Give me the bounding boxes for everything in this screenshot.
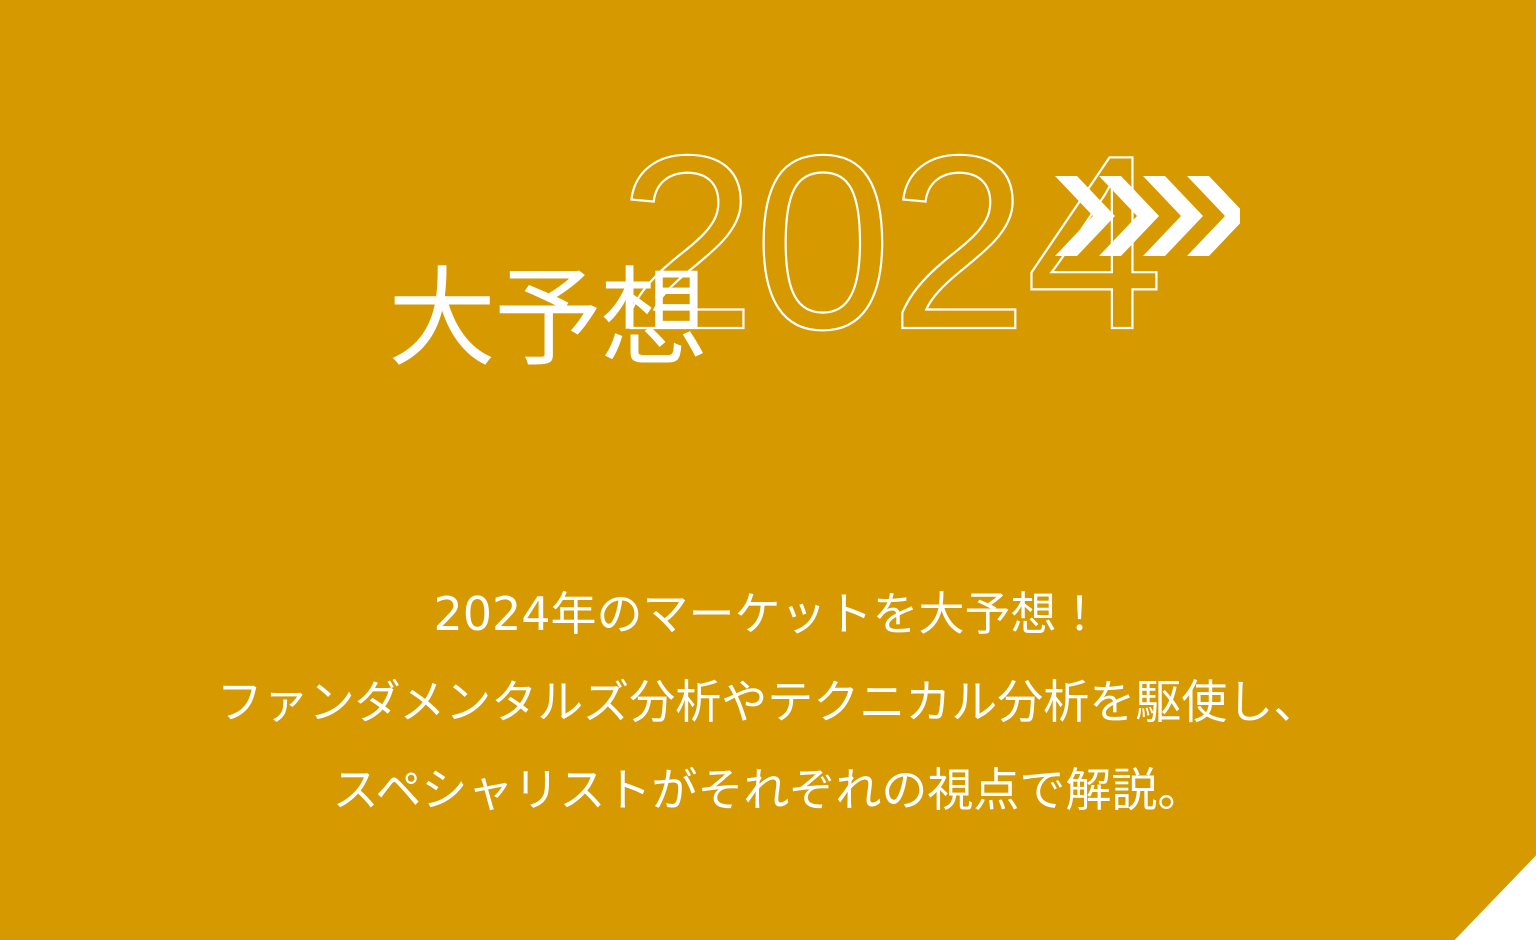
promo-banner: 2024 大予想 2024年のマーケットを大予想！ ファンダメンタルズ分析やテク… [0,0,1536,940]
double-chevron-right-icon [1055,176,1240,256]
description-block: 2024年のマーケットを大予想！ ファンダメンタルズ分析やテクニカル分析を駆使し… [0,570,1536,834]
description-line-2: ファンダメンタルズ分析やテクニカル分析を駆使し、 [0,658,1536,746]
description-line-3: スペシャリストがそれぞれの視点で解説。 [0,746,1536,834]
page-title: 大予想 [388,266,706,374]
description-line-1: 2024年のマーケットを大予想！ [0,570,1536,658]
hero-section: 2024 大予想 [0,0,1536,470]
